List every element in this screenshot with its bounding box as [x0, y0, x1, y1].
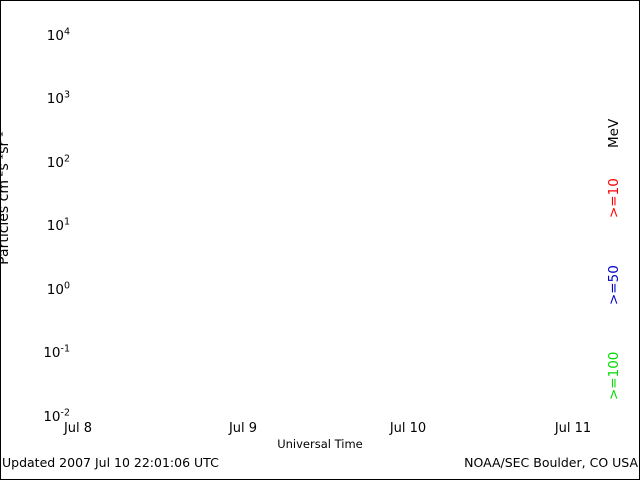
x-tick-jul11: Jul 11 [555, 421, 591, 436]
x-axis-title: Universal Time [0, 437, 640, 451]
legend-item-ge10: >=10 [606, 178, 622, 218]
x-tick-jul8: Jul 8 [64, 421, 92, 436]
legend-unit-mev: MeV [606, 119, 622, 148]
source-credit: NOAA/SEC Boulder, CO USA [464, 455, 638, 470]
updated-timestamp: Updated 2007 Jul 10 22:01:06 UTC [2, 455, 219, 470]
plot-frame [0, 0, 640, 480]
x-tick-jul9: Jul 9 [229, 421, 257, 436]
legend-item-ge100: >=100 [606, 352, 622, 400]
legend-item-ge50: >=50 [606, 265, 622, 305]
x-tick-jul10: Jul 10 [390, 421, 426, 436]
plot-area [0, 0, 495, 381]
